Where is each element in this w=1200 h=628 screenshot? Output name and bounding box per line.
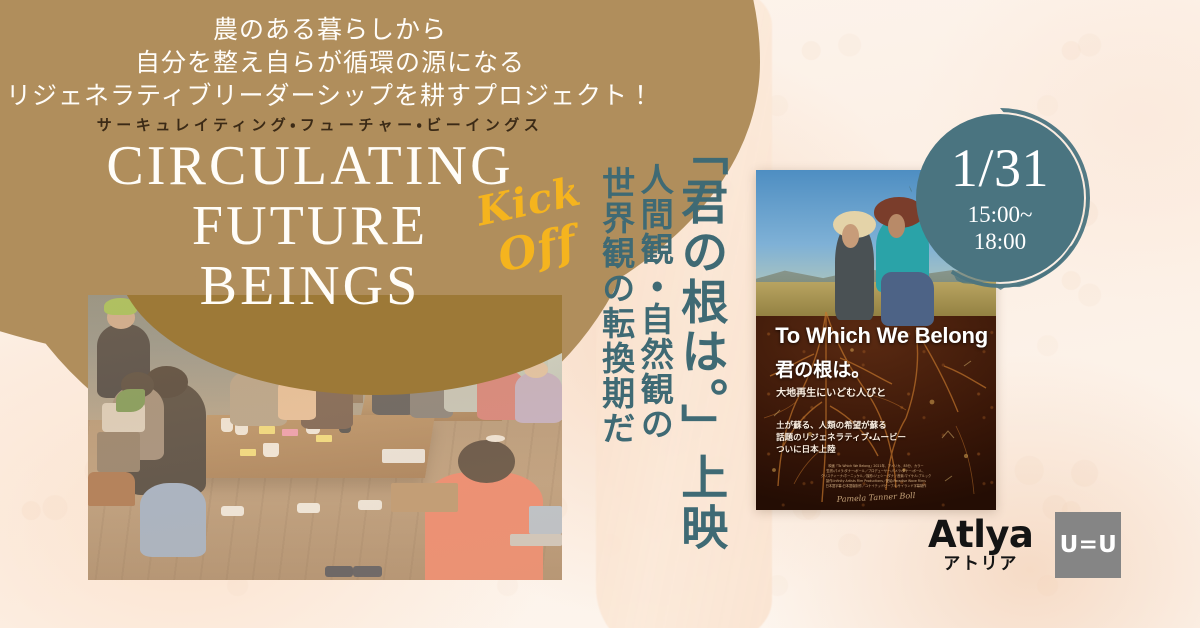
vertical-copy-line-1: 「君の根は。」上映 — [675, 128, 723, 553]
atlya-logo-kana: アトリア — [928, 554, 1033, 574]
event-date: 1/31 — [951, 141, 1049, 195]
ueu-logo-mark: U=U — [1060, 532, 1117, 558]
vertical-copy-line-3: 世界観の転換期だ — [598, 166, 633, 446]
headline-line-1: 農のある暮らしから — [0, 14, 660, 47]
ueu-logo[interactable]: U=U — [1055, 512, 1121, 578]
poster-root: 農のある暮らしから 自分を整え自らが循環の源になる リジェネラティブリーダーシッ… — [0, 0, 1200, 628]
poster-tagline-line-2: 話題のリジェネラティブ・ムービー — [776, 432, 906, 444]
date-badge: 1/31 15:00~ 18:00 — [912, 110, 1088, 286]
headline-block: 農のある暮らしから 自分を整え自らが循環の源になる リジェネラティブリーダーシッ… — [0, 14, 660, 113]
event-time: 15:00~ 18:00 — [968, 201, 1033, 255]
poster-tagline-line-3: ついに日本上陸 — [776, 444, 906, 456]
poster-title-japanese: 君の根は。 — [775, 355, 870, 382]
atlya-logo[interactable]: Atlya アトリア — [928, 516, 1033, 574]
poster-tagline-line-1: 土が蘇る、人類の希望が蘇る — [776, 420, 906, 432]
poster-title-english: To Which We Belong — [775, 323, 988, 349]
headline-line-3: リジェネラティブリーダーシップを耕すプロジェクト！ — [0, 80, 660, 113]
poster-credits-line-5: 日本語字幕・日本語版制作／ユナイテッドピープル・サイランド字幕制作 — [821, 484, 931, 489]
poster-tagline: 土が蘇る、人類の希望が蘇る 話題のリジェネラティブ・ムービー ついに日本上陸 — [776, 420, 906, 456]
vertical-copy-line-2: 人間観・自然観の — [637, 162, 672, 442]
logo-row: Atlya アトリア U=U — [928, 512, 1121, 578]
katakana-subtitle: サーキュレイティング・フューチャー・ビーイングス — [0, 114, 640, 135]
vertical-copy-block: 「君の根は。」上映 人間観・自然観の 世界観の転換期だ — [598, 128, 723, 568]
event-time-start: 15:00~ — [968, 201, 1033, 228]
atlya-logo-name: Atlya — [928, 516, 1033, 554]
date-text-group: 1/31 15:00~ 18:00 — [912, 110, 1088, 286]
event-time-end: 18:00 — [968, 228, 1033, 255]
headline-line-2: 自分を整え自らが循環の源になる — [0, 47, 660, 80]
workshop-photo — [88, 295, 562, 580]
kick-off-badge: Kick Off — [466, 178, 606, 288]
poster-figure-right-face — [888, 214, 905, 238]
poster-subtitle-japanese: 大地再生にいどむ人びと — [776, 384, 886, 399]
poster-credits: 映画「To Which We Belong」2021年、アメリカ、85分、カラー… — [821, 464, 931, 489]
